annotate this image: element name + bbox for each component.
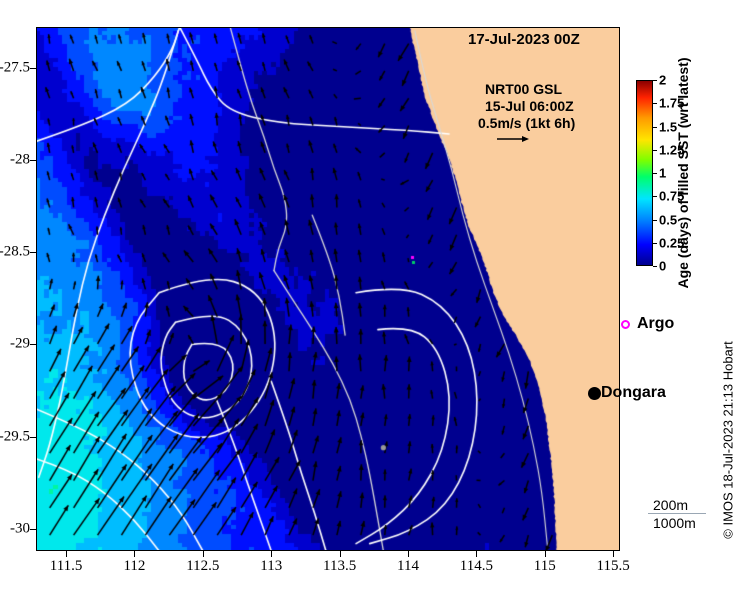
- colorbar-tick: [653, 220, 657, 221]
- source-product-label: NRT00 GSL: [485, 81, 562, 97]
- date-label: 17-Jul-2023 00Z: [468, 31, 580, 48]
- x-tick-label: 114.5: [460, 558, 493, 575]
- y-tick-label: -27.5: [0, 59, 30, 76]
- x-tick-mark: [340, 551, 341, 557]
- y-tick-mark: [30, 160, 36, 161]
- x-tick-label: 113: [260, 558, 282, 575]
- y-tick-label: -30: [10, 520, 30, 537]
- x-tick-mark: [271, 551, 272, 557]
- y-tick-label: -29.5: [0, 428, 30, 445]
- colorbar-tick-label: 2: [659, 73, 666, 88]
- x-tick-mark: [203, 551, 204, 557]
- x-tick-label: 115: [534, 558, 556, 575]
- colorbar-tick: [653, 266, 657, 267]
- dongara-marker-icon: [588, 387, 601, 400]
- x-tick-mark: [66, 551, 67, 557]
- argo-marker-icon: [621, 320, 630, 329]
- depth-200m-line: [648, 513, 706, 514]
- colorbar-tick-label: 0: [659, 259, 666, 274]
- x-tick-mark: [134, 551, 135, 557]
- depth-1000m-label: 1000m: [653, 515, 696, 531]
- colorbar-tick: [653, 243, 657, 244]
- colorbar-tick-label: 1: [659, 166, 666, 181]
- colorbar-tick: [653, 196, 657, 197]
- colorbar-tick: [653, 150, 657, 151]
- colorbar-title: Age (days) of filled SST (wrt latest): [675, 57, 691, 288]
- y-tick-mark: [30, 437, 36, 438]
- y-tick-label: -29: [10, 336, 30, 353]
- y-tick-mark: [30, 344, 36, 345]
- x-tick-label: 112: [123, 558, 145, 575]
- colorbar-tick: [653, 103, 657, 104]
- x-tick-label: 113.5: [323, 558, 356, 575]
- velocity-scale-label: 0.5m/s (1kt 6h): [478, 115, 575, 131]
- y-tick-mark: [30, 529, 36, 530]
- x-tick-label: 112.5: [186, 558, 219, 575]
- y-tick-mark: [30, 252, 36, 253]
- depth-1000m-line: [648, 531, 706, 533]
- colorbar-tick: [653, 127, 657, 128]
- x-tick-mark: [408, 551, 409, 557]
- colorbar-tick: [653, 173, 657, 174]
- y-tick-label: -28: [10, 151, 30, 168]
- argo-legend-label: Argo: [637, 315, 674, 333]
- velocity-reference-arrow-icon: [496, 134, 530, 144]
- x-tick-label: 115.5: [597, 558, 630, 575]
- x-tick-label: 114: [397, 558, 419, 575]
- colorbar-gradient: [636, 80, 653, 266]
- x-tick-mark: [613, 551, 614, 557]
- colorbar: [636, 80, 653, 266]
- depth-200m-label: 200m: [653, 497, 688, 513]
- credit-label: © IMOS 18-Jul-2023 21:13 Hobart: [721, 341, 736, 538]
- x-tick-mark: [545, 551, 546, 557]
- x-tick-label: 111.5: [50, 558, 83, 575]
- y-tick-label: -28.5: [0, 244, 30, 261]
- x-tick-mark: [476, 551, 477, 557]
- dongara-town-label: Dongara: [601, 384, 666, 402]
- source-time-label: 15-Jul 06:00Z: [485, 98, 574, 114]
- colorbar-tick: [653, 80, 657, 81]
- y-tick-mark: [30, 68, 36, 69]
